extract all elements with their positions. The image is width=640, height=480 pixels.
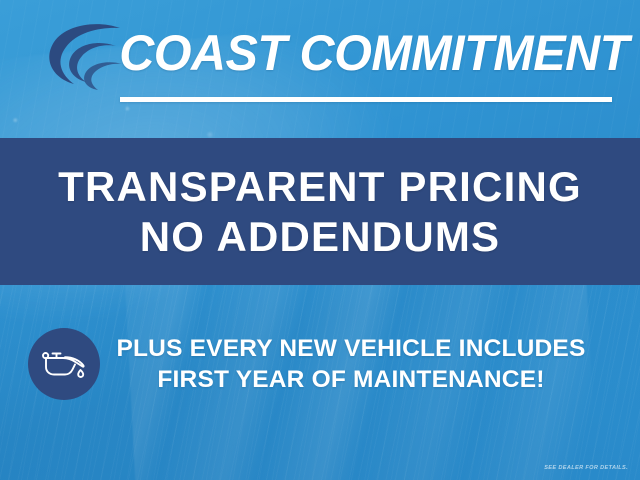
offer-line-first-year-maintenance: FIRST YEAR OF MAINTENANCE! [100, 364, 602, 395]
disclaimer-text: SEE DEALER FOR DETAILS. [544, 465, 628, 471]
header: COAST COMMITMENT [0, 0, 640, 138]
offer-line-plus-every-new-vehicle: PLUS EVERY NEW VEHICLE INCLUDES [100, 333, 602, 364]
offer-text: PLUS EVERY NEW VEHICLE INCLUDES FIRST YE… [100, 333, 640, 396]
page-title: COAST COMMITMENT [126, 22, 623, 84]
maintenance-offer: PLUS EVERY NEW VEHICLE INCLUDES FIRST YE… [0, 318, 640, 410]
band-line-transparent-pricing: TRANSPARENT PRICING [58, 163, 582, 210]
oil-can-icon [28, 328, 100, 400]
header-divider [120, 97, 612, 102]
coast-wave-logo [36, 18, 128, 96]
band-line-no-addendums: NO ADDENDUMS [140, 213, 501, 260]
coast-commitment-ad: COAST COMMITMENT TRANSPARENT PRICING NO … [0, 0, 640, 480]
pricing-band: TRANSPARENT PRICING NO ADDENDUMS [0, 138, 640, 285]
